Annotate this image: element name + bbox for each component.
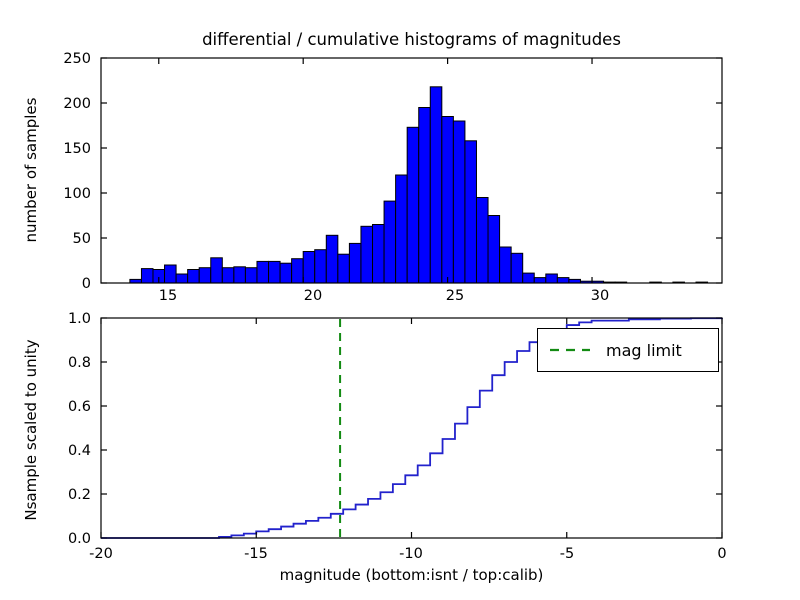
- histogram-bars: [130, 87, 708, 283]
- legend-swatch-mag-limit: [548, 344, 592, 356]
- figure-canvas: differential / cumulative histograms of …: [0, 0, 800, 600]
- bottom-xtick-0: 0: [697, 546, 747, 562]
- top-xtick-20: 20: [288, 288, 338, 304]
- bottom-xtick-m20: -20: [76, 546, 126, 562]
- top-panel-plot-area: [0, 0, 800, 600]
- histogram-bar: [430, 87, 442, 283]
- histogram-bar: [442, 117, 454, 284]
- histogram-bar: [211, 258, 223, 283]
- bottom-panel-ylabel: Nsample scaled to unity: [22, 315, 40, 545]
- bottom-ytick-00: 0.0: [43, 531, 91, 547]
- histogram-bar: [396, 175, 408, 283]
- histogram-bar: [592, 281, 604, 283]
- histogram-bar: [604, 282, 616, 283]
- top-ytick-100: 100: [43, 186, 91, 202]
- top-xtick-25: 25: [430, 288, 480, 304]
- bottom-ytick-06: 0.6: [43, 399, 91, 415]
- histogram-bar: [245, 268, 257, 283]
- histogram-bar: [673, 282, 685, 283]
- bottom-ytick-08: 0.8: [43, 355, 91, 371]
- histogram-bar: [292, 259, 304, 283]
- histogram-bar: [500, 247, 512, 283]
- histogram-bar: [361, 226, 373, 283]
- histogram-bar: [234, 267, 246, 283]
- histogram-bar: [373, 225, 385, 284]
- histogram-bar: [407, 127, 419, 283]
- top-ytick-250: 250: [43, 51, 91, 67]
- bottom-xtick-m15: -15: [231, 546, 281, 562]
- histogram-bar: [130, 279, 142, 283]
- histogram-bar: [165, 265, 177, 283]
- histogram-bar: [650, 282, 662, 283]
- histogram-bar: [488, 216, 500, 284]
- histogram-bar: [523, 273, 535, 283]
- bottom-ytick-04: 0.4: [43, 443, 91, 459]
- histogram-bar: [303, 252, 315, 284]
- chart-title: differential / cumulative histograms of …: [101, 30, 722, 49]
- histogram-bar: [141, 269, 153, 283]
- histogram-bar: [315, 250, 327, 283]
- histogram-bar: [199, 268, 211, 283]
- top-ytick-150: 150: [43, 141, 91, 157]
- histogram-bar: [176, 274, 188, 283]
- bottom-xtick-m10: -10: [386, 546, 436, 562]
- top-panel-ticks: [101, 58, 722, 283]
- top-xtick-30: 30: [575, 288, 625, 304]
- top-panel-frame: [101, 58, 722, 283]
- top-xtick-15: 15: [143, 288, 193, 304]
- top-ytick-200: 200: [43, 96, 91, 112]
- histogram-bar: [338, 254, 350, 283]
- histogram-bar: [419, 108, 431, 284]
- histogram-bar: [280, 263, 292, 283]
- top-panel-ylabel: number of samples: [22, 57, 40, 283]
- legend-label-mag-limit: mag limit: [606, 341, 682, 360]
- histogram-bar: [476, 198, 488, 284]
- bottom-xtick-m5: -5: [542, 546, 592, 562]
- top-ytick-50: 50: [43, 231, 91, 247]
- histogram-bar: [615, 282, 627, 283]
- top-ytick-0: 0: [43, 276, 91, 292]
- histogram-bar: [222, 268, 234, 283]
- histogram-bar: [453, 121, 465, 283]
- histogram-bar: [326, 235, 338, 283]
- histogram-bar: [465, 141, 477, 283]
- histogram-bar: [257, 261, 269, 283]
- histogram-bar: [557, 278, 569, 283]
- histogram-bar: [188, 270, 200, 284]
- bottom-ytick-10: 1.0: [43, 311, 91, 327]
- bottom-panel-xlabel: magnitude (bottom:isnt / top:calib): [101, 566, 722, 584]
- histogram-bar: [384, 201, 396, 283]
- histogram-bar: [580, 281, 592, 283]
- bottom-ytick-02: 0.2: [43, 487, 91, 503]
- bottom-panel-plot-area: [0, 0, 800, 600]
- histogram-bar: [511, 253, 523, 283]
- histogram-bar: [534, 278, 546, 283]
- histogram-bar: [153, 270, 165, 284]
- histogram-bar: [546, 274, 558, 283]
- histogram-bar: [269, 261, 281, 283]
- histogram-bar: [696, 282, 708, 283]
- legend[interactable]: mag limit: [537, 328, 719, 372]
- histogram-bar: [349, 243, 361, 283]
- histogram-bar: [569, 279, 581, 283]
